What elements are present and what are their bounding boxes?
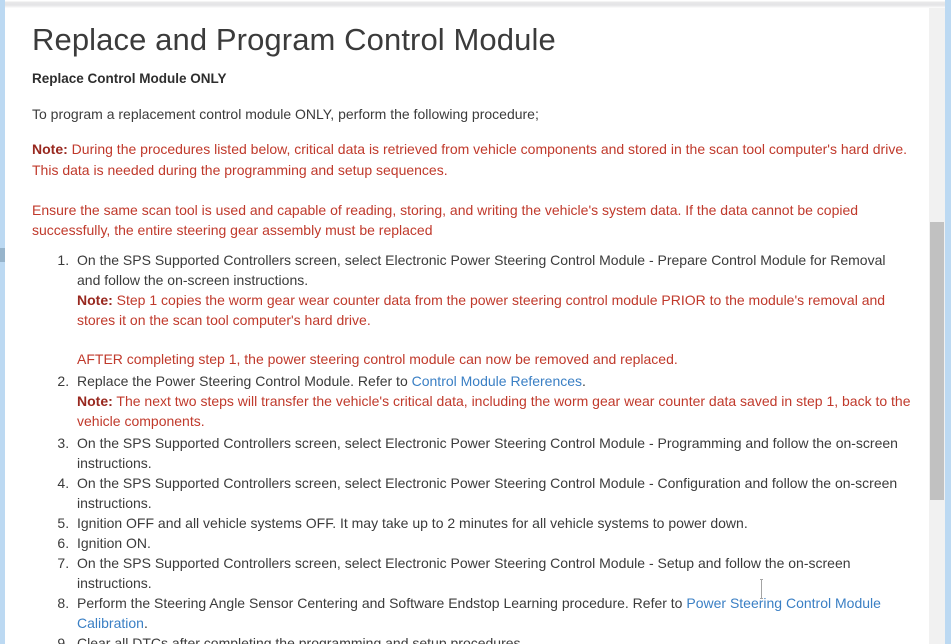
step-extra-note: AFTER completing step 1, the power steer… [77, 349, 911, 369]
step-note-body: Step 1 copies the worm gear wear counter… [77, 292, 885, 328]
list-item: Ignition ON. [73, 533, 911, 553]
step-text: Ignition OFF and all vehicle systems OFF… [77, 515, 748, 531]
note-label: Note: [77, 393, 113, 409]
step-note: Note: The next two steps will transfer t… [77, 391, 911, 431]
right-chrome-strip [945, 0, 951, 644]
step-text: On the SPS Supported Controllers screen,… [77, 252, 886, 288]
step-note: Note: Step 1 copies the worm gear wear c… [77, 290, 911, 330]
step-text-after-link: . [144, 615, 148, 631]
list-item: On the SPS Supported Controllers screen,… [73, 553, 911, 593]
left-scrollbar-thumb[interactable] [0, 248, 5, 262]
step-text-before-link: Perform the Steering Angle Sensor Center… [77, 595, 686, 611]
step-text: Ignition ON. [77, 535, 151, 551]
step-text: On the SPS Supported Controllers screen,… [77, 475, 897, 511]
list-item: Replace the Power Steering Control Modul… [73, 371, 911, 431]
note-label: Note: [77, 292, 113, 308]
note-body: During the procedures listed below, crit… [32, 141, 907, 177]
step-text: Clear all DTCs after completing the prog… [77, 635, 524, 644]
procedure-steps: On the SPS Supported Controllers screen,… [32, 250, 911, 644]
list-item: Perform the Steering Angle Sensor Center… [73, 593, 911, 633]
intro-paragraph: To program a replacement control module … [32, 104, 911, 124]
step-text-after-link: . [582, 373, 586, 389]
section-subtitle: Replace Control Module ONLY [32, 70, 911, 88]
list-item: On the SPS Supported Controllers screen,… [73, 433, 911, 473]
browser-viewport: Replace and Program Control Module Repla… [0, 0, 951, 644]
step-text: On the SPS Supported Controllers screen,… [77, 435, 898, 471]
step-text: On the SPS Supported Controllers screen,… [77, 555, 851, 591]
list-item: On the SPS Supported Controllers screen,… [73, 250, 911, 369]
note-label: Note: [32, 141, 68, 157]
vertical-scrollbar[interactable] [929, 8, 945, 644]
top-toolbar-strip [5, 0, 945, 8]
step-note-body: The next two steps will transfer the veh… [77, 393, 911, 429]
page-title: Replace and Program Control Module [32, 22, 911, 59]
list-item: Ignition OFF and all vehicle systems OFF… [73, 513, 911, 533]
warning-paragraph: Ensure the same scan tool is used and ca… [32, 200, 911, 241]
link-control-module-references[interactable]: Control Module References [412, 373, 582, 389]
document-content: Replace and Program Control Module Repla… [5, 8, 929, 644]
step-text-before-link: Replace the Power Steering Control Modul… [77, 373, 412, 389]
left-chrome-strip [0, 0, 5, 644]
scrollbar-thumb[interactable] [930, 222, 944, 500]
list-item: Clear all DTCs after completing the prog… [73, 633, 911, 644]
document-page: Replace and Program Control Module Repla… [5, 8, 929, 644]
list-item: On the SPS Supported Controllers screen,… [73, 473, 911, 513]
note-paragraph: Note: During the procedures listed below… [32, 139, 911, 180]
